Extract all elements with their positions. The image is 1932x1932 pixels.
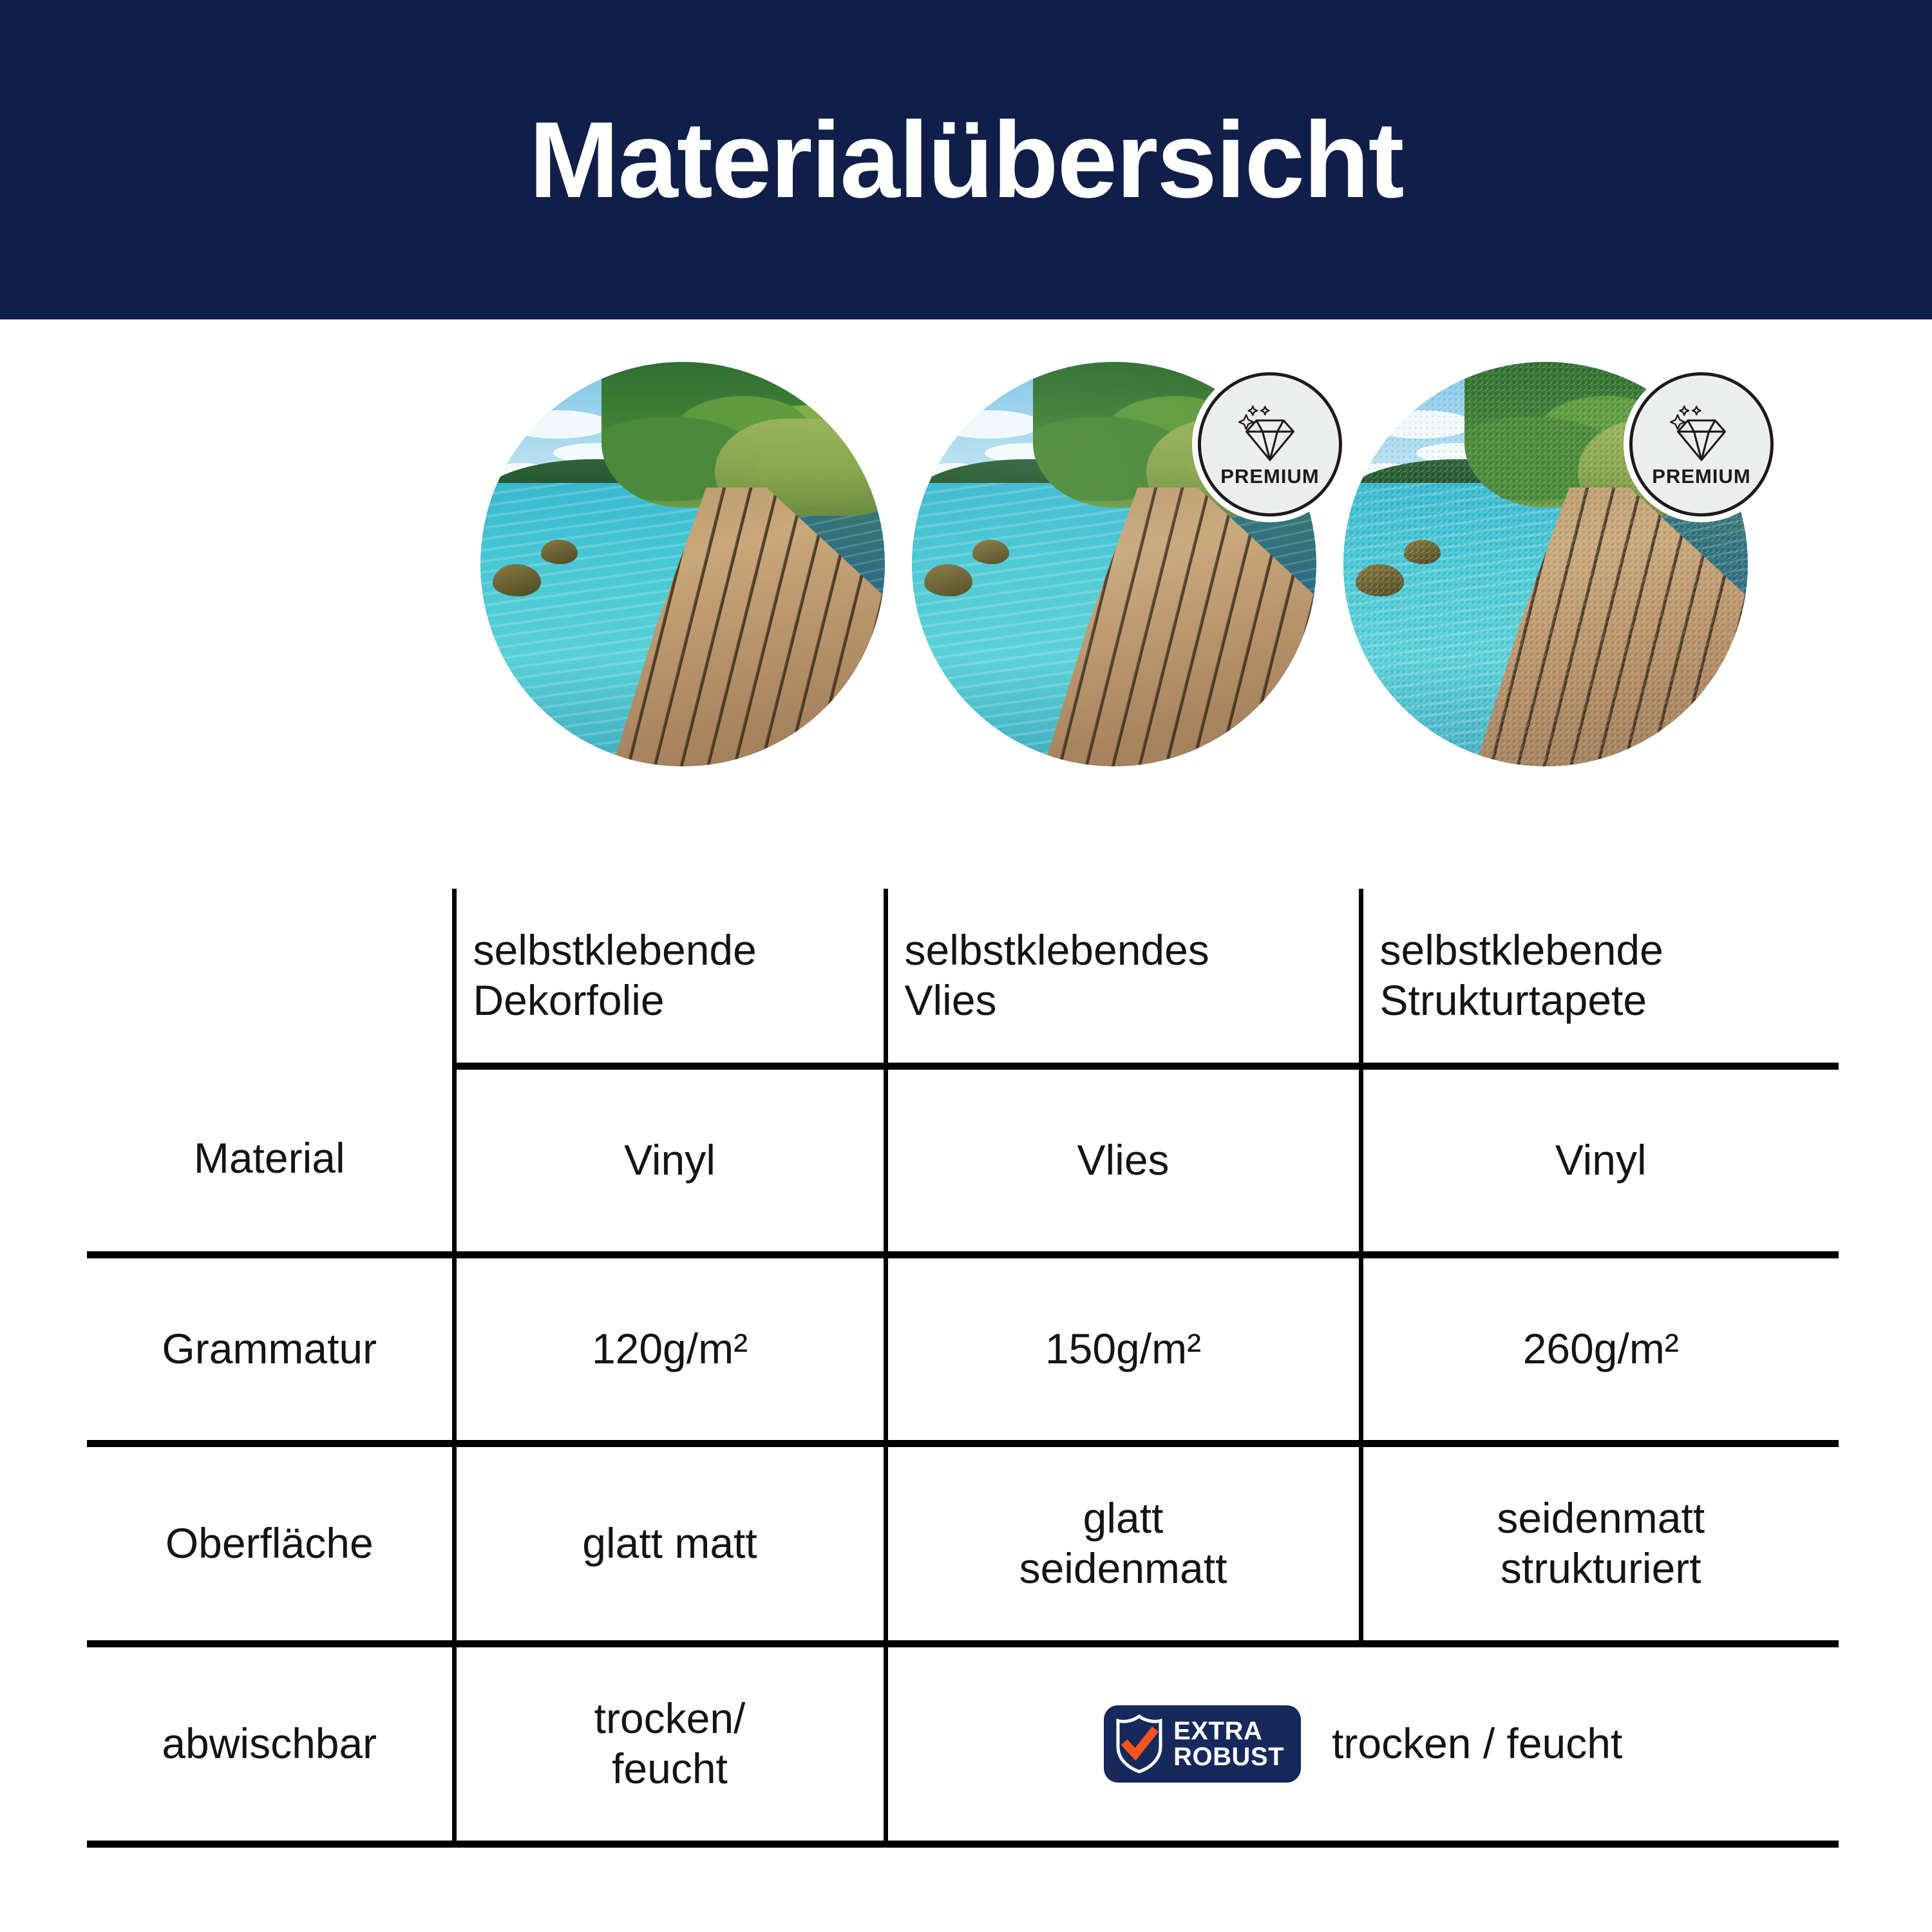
premium-badge-label: PREMIUM <box>1652 466 1750 486</box>
cell-oberflaeche-dekorfolie: glatt matt <box>454 1444 885 1644</box>
rock <box>924 564 972 596</box>
value-line2: strukturiert <box>1372 1544 1830 1594</box>
extra-robust-line1: EXTRA <box>1173 1718 1262 1744</box>
header-banner: Materialübersicht <box>0 0 1932 319</box>
value-line1: glatt <box>897 1493 1350 1544</box>
table-header-line2: Vlies <box>905 976 1350 1026</box>
table-header-line2: Dekorfolie <box>473 976 875 1026</box>
row-label-oberflaeche: Oberfläche <box>87 1444 454 1644</box>
extra-robust-line2: ROBUST <box>1173 1744 1284 1770</box>
premium-badge-strukturtapete: PREMIUM <box>1629 372 1774 516</box>
cell-grammatur-vlies: 150g/m² <box>885 1255 1361 1444</box>
table-header-line1: selbstklebende <box>1380 925 1830 976</box>
cloud <box>505 410 610 439</box>
rock <box>1356 564 1404 596</box>
table-row-grammatur: Grammatur 120g/m² 150g/m² 260g/m² <box>87 1255 1839 1444</box>
table-header-line2: Strukturtapete <box>1380 976 1830 1026</box>
diamond-icon <box>1663 403 1739 465</box>
cell-oberflaeche-vlies: glatt seidenmatt <box>885 1444 1361 1644</box>
table-header-dekorfolie: selbstklebende Dekorfolie <box>454 889 885 1066</box>
table-header-line1: selbstklebende <box>473 925 875 976</box>
cell-oberflaeche-strukturtapete: seidenmatt strukturiert <box>1361 1444 1839 1644</box>
extra-robust-text: EXTRA ROBUST <box>1173 1718 1284 1770</box>
premium-badge-vlies: PREMIUM <box>1198 372 1342 516</box>
cloud <box>936 410 1041 439</box>
rock <box>493 564 541 596</box>
product-image-dekorfolie <box>480 362 885 766</box>
table-header-line1: selbstklebendes <box>905 925 1350 976</box>
cell-material-vlies: Vlies <box>885 1066 1361 1255</box>
rock <box>972 540 1009 564</box>
product-circles-row: PREMIUM PREMIUM <box>0 358 1932 770</box>
row-label-grammatur: Grammatur <box>87 1255 454 1444</box>
premium-badge-label: PREMIUM <box>1220 466 1319 486</box>
page-title: Materialübersicht <box>529 106 1403 214</box>
row-label-material: Material <box>87 1066 454 1255</box>
cell-material-dekorfolie: Vinyl <box>454 1066 885 1255</box>
pier-lake-photo <box>480 362 885 766</box>
table-header-vlies: selbstklebendes Vlies <box>885 889 1361 1066</box>
extra-robust-badge: EXTRA ROBUST <box>1104 1705 1301 1783</box>
value-line1: glatt matt <box>466 1519 875 1569</box>
rock <box>1404 540 1441 564</box>
rock <box>541 540 578 564</box>
table-row-oberflaeche: Oberfläche glatt matt glatt seidenmatt s… <box>87 1444 1839 1644</box>
value-line2: seidenmatt <box>897 1544 1350 1594</box>
value-line1: seidenmatt <box>1372 1493 1830 1544</box>
table-header-strukturtapete: selbstklebende Strukturtapete <box>1361 889 1839 1066</box>
table-header-row: selbstklebende Dekorfolie selbstklebende… <box>87 889 1839 1066</box>
cell-abwischbar-dekorfolie: trocken/ feucht <box>454 1644 885 1844</box>
cell-grammatur-strukturtapete: 260g/m² <box>1361 1255 1839 1444</box>
diamond-icon <box>1232 403 1308 465</box>
table-row-abwischbar: abwischbar trocken/ feucht <box>87 1644 1839 1844</box>
cell-material-strukturtapete: Vinyl <box>1361 1066 1839 1255</box>
row-label-abwischbar: abwischbar <box>87 1644 454 1844</box>
cloud <box>1368 410 1473 439</box>
cell-grammatur-dekorfolie: 120g/m² <box>454 1255 885 1444</box>
cell-abwischbar-merged: EXTRA ROBUST trocken / feucht <box>885 1644 1839 1844</box>
material-overview-table: selbstklebende Dekorfolie selbstklebende… <box>87 889 1839 1823</box>
value-line2: feucht <box>466 1744 875 1794</box>
value-line1: trocken/ <box>466 1694 875 1744</box>
table-header-corner <box>87 889 454 1066</box>
table-row-material: Material Vinyl Vlies Vinyl <box>87 1066 1839 1255</box>
shield-check-icon <box>1114 1714 1164 1774</box>
cell-abwischbar-merged-value: trocken / feucht <box>1332 1719 1622 1769</box>
